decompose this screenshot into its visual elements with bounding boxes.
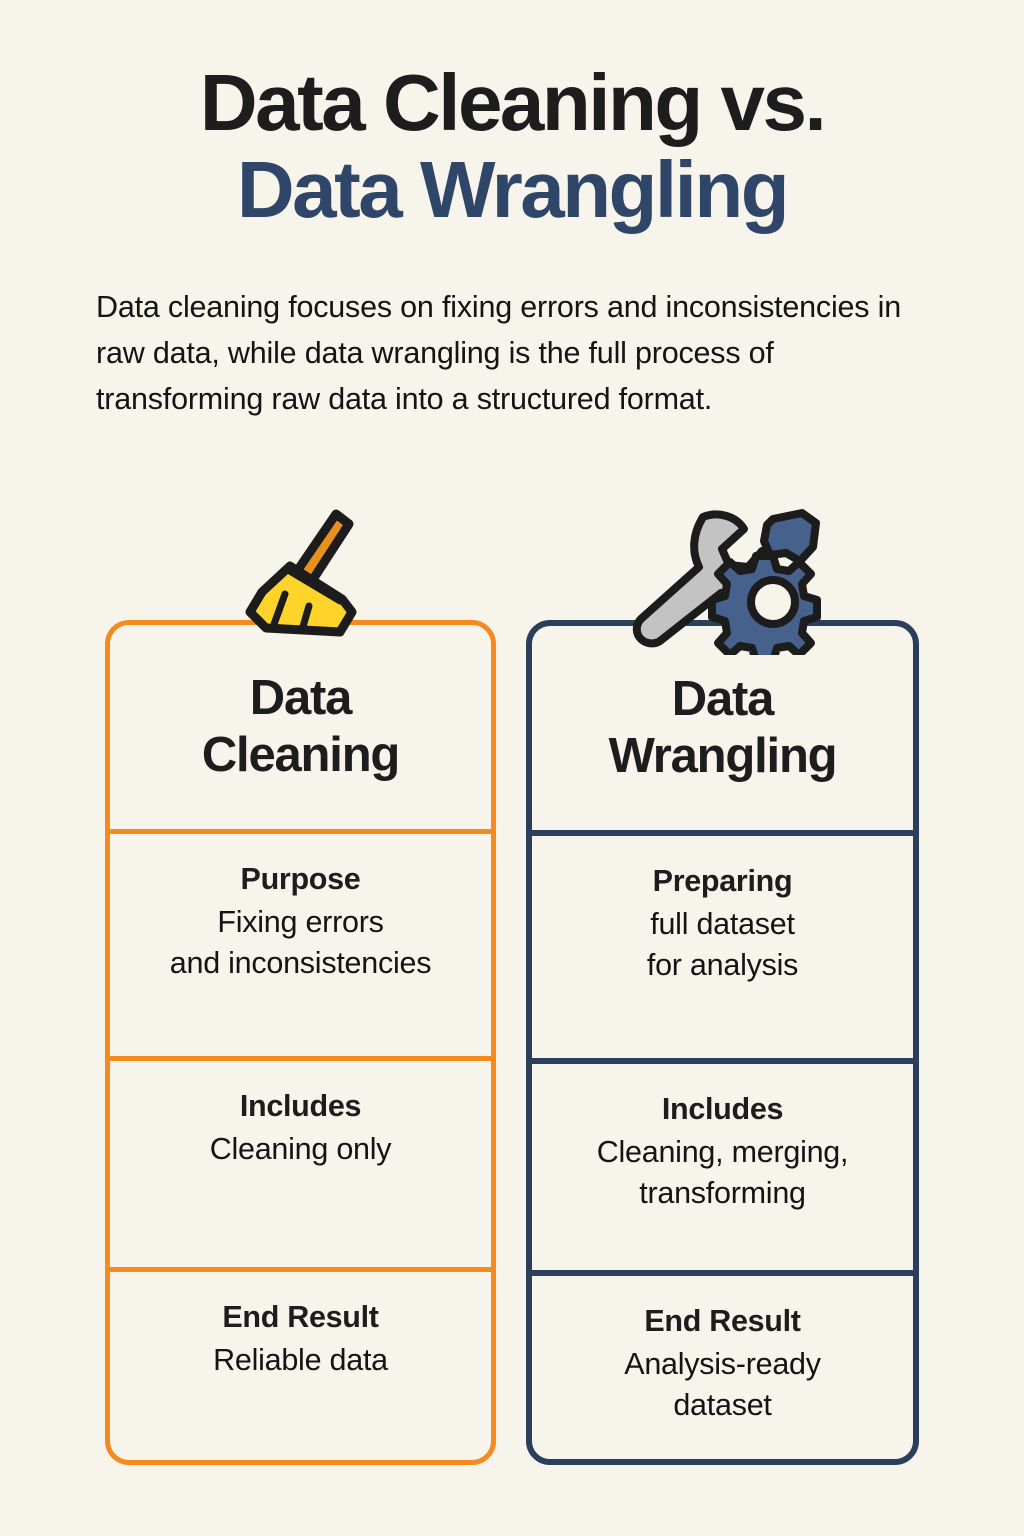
- card-title-line-2: Wrangling: [609, 728, 837, 785]
- card-header-data-wrangling: Data Wrangling: [532, 626, 913, 830]
- row-label: End Result: [222, 1298, 378, 1336]
- wrench-gear-icon: [630, 505, 830, 655]
- card-data-wrangling: Data Wrangling Preparing full dataset fo…: [526, 620, 919, 1465]
- card-row-purpose: Purpose Fixing errors and inconsistencie…: [110, 834, 491, 1056]
- row-label: Includes: [240, 1087, 361, 1125]
- row-value-line-1: Fixing errors: [217, 902, 383, 943]
- row-value-line-2: dataset: [673, 1385, 771, 1426]
- gear-icon: [712, 556, 817, 655]
- card-row-preparing: Preparing full dataset for analysis: [532, 836, 913, 1058]
- card-row-includes: Includes Cleaning, merging, transforming: [532, 1064, 913, 1270]
- broom-icon: [232, 500, 382, 650]
- title-line-2: Data Wrangling: [0, 144, 1024, 235]
- row-value-line-2: and inconsistencies: [170, 943, 431, 984]
- page-title: Data Cleaning vs. Data Wrangling: [0, 62, 1024, 235]
- row-label: Includes: [662, 1090, 783, 1128]
- card-row-includes: Includes Cleaning only: [110, 1061, 491, 1267]
- subtitle-paragraph: Data cleaning focuses on fixing errors a…: [96, 284, 942, 422]
- row-value-line-2: transforming: [639, 1173, 806, 1214]
- row-label: Preparing: [653, 862, 793, 900]
- infographic-page: Data Cleaning vs. Data Wrangling Data cl…: [0, 0, 1024, 1536]
- row-value-line-2: for analysis: [647, 945, 798, 986]
- card-row-end-result: End Result Analysis-ready dataset: [532, 1276, 913, 1465]
- row-value-line-1: Cleaning only: [210, 1129, 392, 1170]
- card-title-line-2: Cleaning: [202, 727, 399, 784]
- card-row-end-result: End Result Reliable data: [110, 1272, 491, 1465]
- card-header-data-cleaning: Data Cleaning: [110, 625, 491, 829]
- row-value-line-1: full dataset: [650, 904, 795, 945]
- row-value-line-1: Reliable data: [213, 1340, 388, 1381]
- card-data-cleaning: Data Cleaning Purpose Fixing errors and …: [105, 620, 496, 1465]
- row-value-line-1: Analysis-ready: [624, 1344, 821, 1385]
- bolt-chip-icon: [764, 513, 816, 561]
- title-line-1: Data Cleaning vs.: [0, 62, 1024, 144]
- row-value-line-1: Cleaning, merging,: [597, 1132, 849, 1173]
- row-label: Purpose: [241, 860, 361, 898]
- card-title-line-1: Data: [672, 671, 773, 728]
- card-title-line-1: Data: [250, 670, 351, 727]
- row-label: End Result: [644, 1302, 800, 1340]
